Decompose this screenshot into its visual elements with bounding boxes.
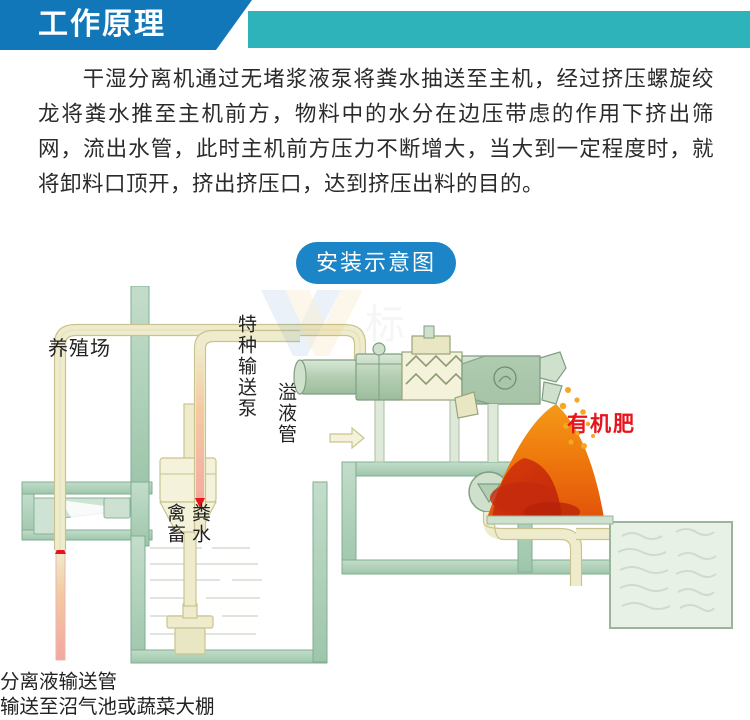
separated-liquid-line-1: 分离液输送管 (0, 670, 750, 695)
installation-diagram: 标 养殖场 特种输送泵 溢液管 禽畜 粪水 有机肥 分离液输送管 输送至沼气池或… (0, 286, 750, 670)
label-overflow-pipe: 溢液管 (272, 382, 299, 445)
label-separated-liquid-pipe: 分离液输送管 输送至沼气池或蔬菜大棚 (0, 670, 750, 720)
label-special-pump: 特种输送泵 (232, 314, 259, 419)
header-teal-accent (248, 11, 750, 48)
label-farm: 养殖场 (48, 332, 111, 361)
watermark: 标 (255, 286, 470, 361)
description-paragraph: 干湿分离机通过无堵浆液泵将粪水抽送至主机，经过挤压螺旋绞龙将粪水推至主机前方，物… (38, 62, 714, 202)
svg-text:标: 标 (365, 302, 405, 347)
label-manure-water-col1: 禽畜 (161, 503, 188, 545)
installation-diagram-badge: 安装示意图 (296, 242, 456, 284)
page-title: 工作原理 (38, 7, 166, 43)
label-organic-fertilizer: 有机肥 (567, 408, 636, 438)
separated-liquid-line-2: 输送至沼气池或蔬菜大棚 (0, 695, 750, 720)
page-header: 工作原理 (0, 0, 750, 56)
label-manure-water-col2: 粪水 (186, 503, 213, 545)
badge-label: 安装示意图 (296, 242, 456, 284)
paragraph-text: 干湿分离机通过无堵浆液泵将粪水抽送至主机，经过挤压螺旋绞龙将粪水推至主机前方，物… (38, 67, 714, 196)
